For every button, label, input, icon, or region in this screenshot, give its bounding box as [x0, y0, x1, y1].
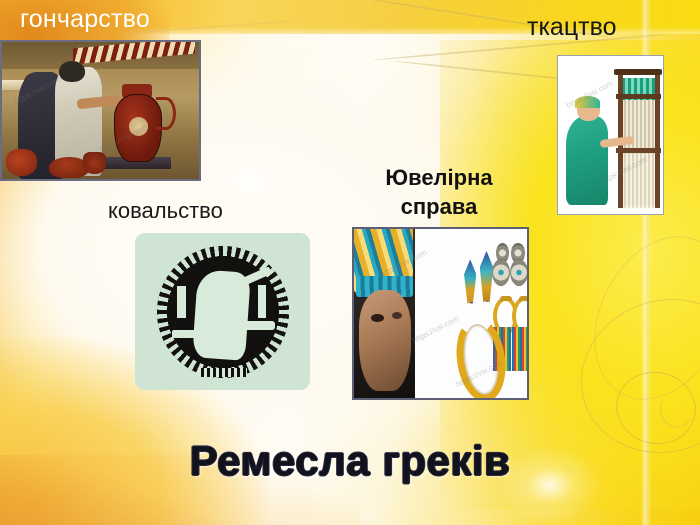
image-pottery: https://vsi.com https://vsi.com — [0, 40, 201, 181]
earring-fringe — [480, 301, 493, 314]
earring-silver-disc-large — [510, 259, 528, 286]
jewelry-items-photo — [415, 229, 527, 398]
anvil — [237, 321, 276, 330]
pottery-clay-pot — [83, 152, 107, 174]
smith-tool-pincers — [258, 285, 267, 318]
label-weaving: ткацтво — [527, 13, 617, 42]
label-pottery: гончарство — [20, 5, 150, 34]
image-smithing — [135, 233, 310, 390]
medallion-base-pattern — [198, 368, 247, 377]
earring-gold-top — [519, 296, 529, 301]
loom-warp-threads-lower — [622, 154, 655, 208]
weaver-robe — [566, 116, 608, 204]
slide-title: Ремесла греків — [0, 437, 700, 485]
earring-fringe — [464, 302, 476, 313]
forge-stand — [172, 330, 197, 338]
label-jewelry: Ювелірна справа — [364, 163, 514, 221]
pottery-clay-pot — [6, 149, 38, 176]
earring-beaded-blue — [480, 251, 493, 302]
image-weaving: https://vsi.com https://vsi.com — [557, 55, 664, 215]
loom-heddle-bar — [616, 94, 661, 99]
pottery-craftsman-head — [59, 61, 85, 82]
model-face — [359, 290, 411, 391]
loom-top-beam — [614, 69, 662, 75]
earring-silver-disc-large — [492, 259, 510, 286]
model-eye — [371, 314, 384, 322]
jewelry-model-photo — [354, 229, 415, 398]
pottery-amphora — [114, 94, 161, 162]
earring-beaded-tassel — [512, 327, 529, 371]
earring-beaded-blue — [464, 259, 476, 303]
smith-tool-tongs — [177, 286, 186, 317]
loom-lower-bar — [616, 148, 661, 154]
earring-gold-top — [500, 296, 512, 301]
slide-canvas: гончарство https://vsi.com https://vsi.c… — [0, 0, 700, 525]
weaver-headscarf — [575, 96, 600, 109]
image-jewelry: https://vsi.com https://vsi.com https://… — [352, 227, 529, 400]
loom-right-post — [655, 69, 660, 208]
forge-sparks — [205, 321, 233, 340]
label-smithing: ковальство — [108, 198, 223, 224]
